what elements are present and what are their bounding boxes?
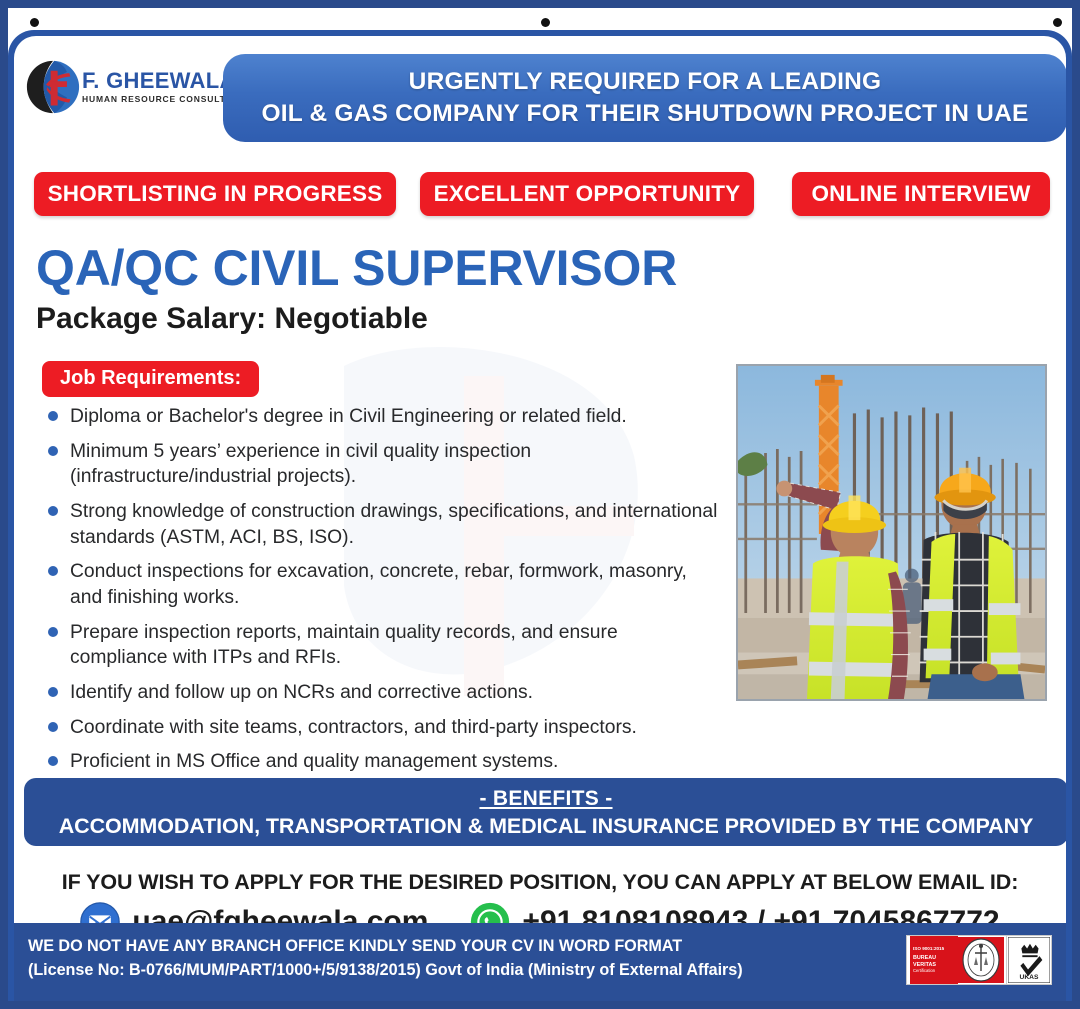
list-item: Minimum 5 years’ experience in civil qua… [40, 439, 718, 490]
list-item: Identify and follow up on NCRs and corre… [40, 680, 718, 706]
pin-dot-left [30, 18, 39, 27]
bullet-icon [48, 722, 58, 732]
status-badges: SHORTLISTING IN PROGRESS EXCELLENT OPPOR… [14, 172, 1066, 218]
requirement-text: Strong knowledge of construction drawing… [70, 501, 717, 548]
pin-dot-right [1053, 18, 1062, 27]
poster-body-inner: F. GHEEWALA HUMAN RESOURCE CONSULTANTS U… [14, 36, 1066, 1001]
headline-line-2: OIL & GAS COMPANY FOR THEIR SHUTDOWN PRO… [261, 98, 1028, 130]
requirement-text: Diploma or Bachelor's degree in Civil En… [70, 406, 627, 427]
poster-header: F. GHEEWALA HUMAN RESOURCE CONSULTANTS U… [14, 54, 1066, 144]
certification-badge: ISO 9001:2015 BUREAU VERITAS Certificati… [906, 935, 1052, 985]
job-advertisement-poster: F. GHEEWALA HUMAN RESOURCE CONSULTANTS U… [0, 0, 1080, 1009]
headline-line-1: URGENTLY REQUIRED FOR A LEADING [409, 66, 882, 98]
requirement-text: Identify and follow up on NCRs and corre… [70, 682, 533, 703]
pin-dot-center [541, 18, 550, 27]
headline-banner: URGENTLY REQUIRED FOR A LEADING OIL & GA… [223, 54, 1066, 142]
benefits-heading: - BENEFITS - [479, 787, 612, 811]
poster-frame: F. GHEEWALA HUMAN RESOURCE CONSULTANTS U… [8, 8, 1072, 1001]
bullet-icon [48, 411, 58, 421]
bullet-icon [48, 446, 58, 456]
bullet-icon [48, 756, 58, 766]
photo-illustration [738, 366, 1045, 699]
requirement-text: Proficient in MS Office and quality mana… [70, 751, 558, 772]
bullet-icon [48, 627, 58, 637]
certification-label: Certification [913, 968, 955, 973]
benefits-body: ACCOMMODATION, TRANSPORTATION & MEDICAL … [59, 814, 1034, 839]
bureau-veritas-seal-icon [958, 937, 1004, 983]
requirement-text: Coordinate with site teams, contractors,… [70, 717, 637, 738]
bullet-icon [48, 687, 58, 697]
bureau-veritas-block: ISO 9001:2015 BUREAU VERITAS Certificati… [907, 936, 1007, 984]
bureau-veritas-text: ISO 9001:2015 BUREAU VERITAS Certificati… [910, 936, 958, 984]
gheewala-globe-logo-icon [24, 58, 82, 116]
list-item: Proficient in MS Office and quality mana… [40, 749, 718, 775]
salary-text: Package Salary: Negotiable [36, 302, 428, 336]
footer-line-1: WE DO NOT HAVE ANY BRANCH OFFICE KINDLY … [28, 934, 743, 958]
poster-content: F. GHEEWALA HUMAN RESOURCE CONSULTANTS U… [14, 36, 1066, 1001]
company-logo: F. GHEEWALA HUMAN RESOURCE CONSULTANTS [24, 58, 252, 116]
footer-text: WE DO NOT HAVE ANY BRANCH OFFICE KINDLY … [28, 934, 743, 983]
ukas-crown-tick-icon: UKAS [1008, 937, 1050, 983]
bullet-icon [48, 566, 58, 576]
status-badge-shortlisting: SHORTLISTING IN PROGRESS [34, 172, 396, 216]
list-item: Strong knowledge of construction drawing… [40, 499, 718, 550]
poster-body-panel: F. GHEEWALA HUMAN RESOURCE CONSULTANTS U… [8, 30, 1072, 1001]
list-item: Prepare inspection reports, maintain qua… [40, 620, 718, 671]
status-badge-opportunity: EXCELLENT OPPORTUNITY [420, 172, 754, 216]
apply-instruction: IF YOU WISH TO APPLY FOR THE DESIRED POS… [14, 870, 1066, 895]
requirements-heading: Job Requirements: [42, 361, 259, 397]
svg-text:UKAS: UKAS [1020, 974, 1039, 981]
poster-footer: WE DO NOT HAVE ANY BRANCH OFFICE KINDLY … [14, 923, 1066, 1001]
requirements-list: Diploma or Bachelor's degree in Civil En… [40, 404, 718, 784]
status-badge-online-interview: ONLINE INTERVIEW [792, 172, 1050, 216]
list-item: Coordinate with site teams, contractors,… [40, 715, 718, 741]
footer-line-2: (License No: B-0766/MUM/PART/1000+/5/913… [28, 958, 743, 982]
requirement-text: Prepare inspection reports, maintain qua… [70, 622, 618, 669]
list-item: Diploma or Bachelor's degree in Civil En… [40, 404, 718, 430]
list-item: Conduct inspections for excavation, conc… [40, 559, 718, 610]
requirement-text: Conduct inspections for excavation, conc… [70, 561, 687, 608]
bureau-veritas-label: BUREAU VERITAS [913, 955, 955, 969]
benefits-panel: - BENEFITS - ACCOMMODATION, TRANSPORTATI… [24, 778, 1066, 846]
iso-standard-label: ISO 9001:2015 [913, 946, 955, 952]
construction-site-photo [736, 364, 1047, 701]
job-title: QA/QC CIVIL SUPERVISOR [36, 239, 677, 297]
bullet-icon [48, 506, 58, 516]
ukas-block: UKAS [1007, 936, 1051, 984]
requirement-text: Minimum 5 years’ experience in civil qua… [70, 441, 531, 488]
